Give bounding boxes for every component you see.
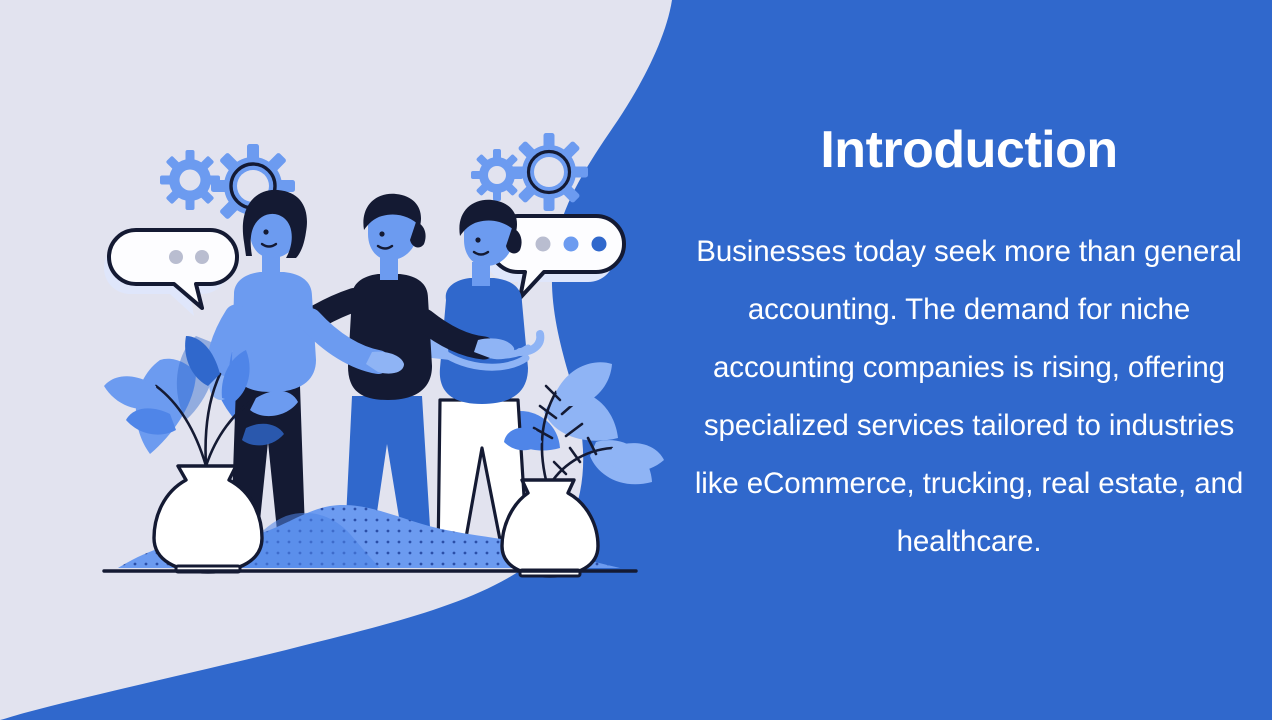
- slide-body-text: Businesses today seek more than general …: [689, 223, 1249, 571]
- bubble-dot: [169, 250, 183, 264]
- text-column: Introduction Businesses today seek more …: [666, 0, 1272, 720]
- slide-root: Introduction Businesses today seek more …: [0, 0, 1272, 720]
- speech-bubble-left: [104, 230, 237, 316]
- bubble-dot: [536, 237, 551, 252]
- potted-plant-right: [502, 362, 664, 576]
- page-title: Introduction: [820, 122, 1117, 179]
- bubble-dot: [195, 250, 209, 264]
- team-discussion-illustration: [0, 0, 700, 640]
- bubble-dot: [564, 237, 579, 252]
- bubble-dot: [592, 237, 607, 252]
